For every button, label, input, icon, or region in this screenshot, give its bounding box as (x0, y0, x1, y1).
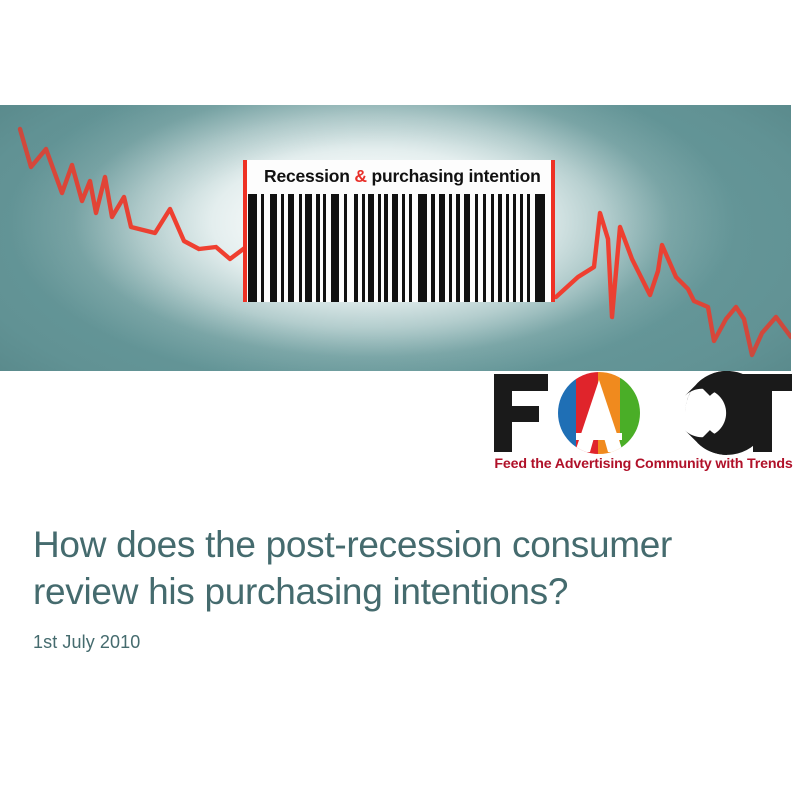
fact-logo: Feed the Advertising Community with Tren… (490, 371, 795, 481)
fact-logo-tagline: Feed the Advertising Community with Tren… (492, 456, 795, 472)
page-title: How does the post-recession consumer rev… (33, 521, 763, 615)
barcode-title: Recession & purchasing intention (264, 166, 541, 187)
barcode-right-red-rail (551, 160, 555, 302)
title-slide: Recession & purchasing intention (0, 0, 800, 800)
logo-letter-f (494, 374, 548, 452)
barcode-bars (243, 194, 555, 302)
barcode-graphic: Recession & purchasing intention (243, 160, 555, 302)
declining-trend-line-right (556, 213, 791, 355)
presentation-date: 1st July 2010 (33, 615, 763, 653)
title-block: How does the post-recession consumer rev… (33, 521, 763, 653)
logo-letter-a-mark (550, 371, 648, 455)
barcode-left-red-rail (243, 160, 247, 302)
barcode-title-part1: Recession (264, 166, 354, 186)
barcode-title-ampersand: & (354, 166, 366, 186)
fact-logo-mark (490, 371, 795, 455)
barcode-title-part2: purchasing intention (367, 166, 541, 186)
